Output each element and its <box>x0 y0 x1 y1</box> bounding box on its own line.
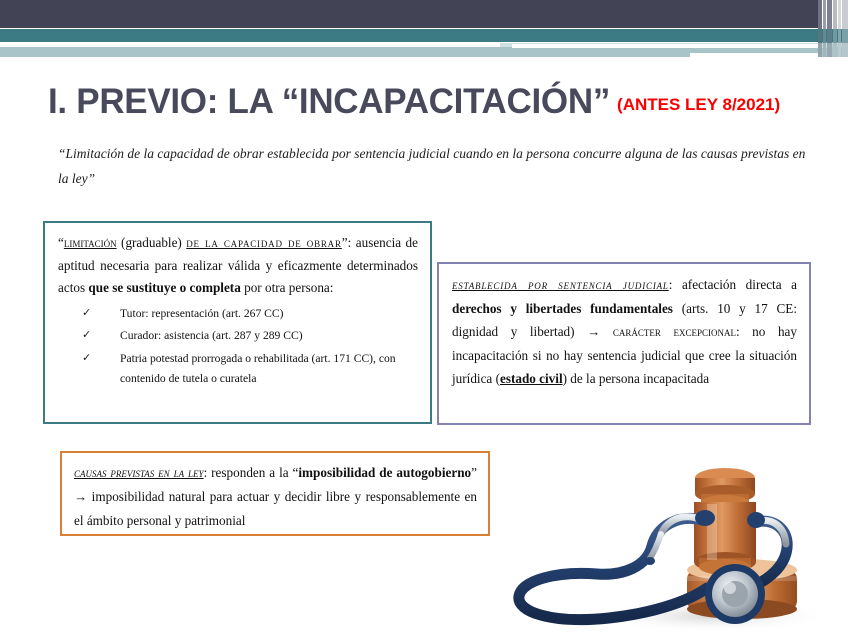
term-causas-previstas: Causas previstas en la ley <box>74 465 204 480</box>
list-item: ✓Curador: asistencia (art. 287 y 289 CC) <box>76 326 418 346</box>
term-estado-civil: estado civil <box>500 371 563 386</box>
page-title-annotation: (ANTES LEY 8/2021) <box>617 95 780 114</box>
header-notch-left <box>0 42 500 47</box>
header-band-dark <box>0 0 818 28</box>
box-limitacion-body-2: por otra persona: <box>241 280 334 295</box>
box-sentencia-paragraph: Establecida por sentencia judicial: afec… <box>452 273 797 391</box>
term-establecida-sentencia: Establecida por sentencia judicial <box>452 277 669 292</box>
header-vstripe-pale-overlay <box>818 43 848 57</box>
box-sentencia-text-1: : afectación directa a <box>669 277 797 292</box>
stethoscope-chestpiece <box>705 564 765 624</box>
list-item-label: Tutor: representación (art. 267 CC) <box>120 307 283 320</box>
check-icon: ✓ <box>82 349 91 368</box>
term-limitacion: Limitación <box>64 235 117 250</box>
stethoscope-eartip-right <box>747 512 765 528</box>
header-vstripe-teal-overlay <box>818 29 848 43</box>
box-limitacion-paragraph: “Limitación (graduable) de la capacidad … <box>58 232 418 300</box>
list-item: ✓Tutor: representación (art. 267 CC) <box>76 304 418 324</box>
term-capacidad-obrar: de la capacidad de obrar <box>186 235 342 250</box>
term-caracter-excepcional: Carácter excepcional <box>613 324 736 339</box>
stethoscope-joint <box>645 557 655 565</box>
slide-canvas: I. PREVIO: LA “INCAPACITACIÓN”(ANTES LEY… <box>0 0 848 636</box>
box-limitacion-body-bold: que se sustituye o completa <box>88 280 240 295</box>
page-title: I. PREVIO: LA “INCAPACITACIÓN” <box>48 82 610 121</box>
stethoscope-eartip-left <box>695 510 715 526</box>
slide-subtitle-quote: “Limitación de la capacidad de obrar est… <box>58 142 818 192</box>
box-causas-previstas: Causas previstas en la ley: responden a … <box>60 451 490 536</box>
list-item-label: Patria potestad prorrogada o rehabilitad… <box>120 352 396 385</box>
header-notch-mid <box>512 44 832 48</box>
header-notch-bottom <box>0 57 690 63</box>
term-paren: (graduable) <box>117 235 187 250</box>
box-causas-paragraph: Causas previstas en la ley: responden a … <box>74 461 477 533</box>
gavel-and-stethoscope-photo <box>497 448 842 634</box>
box-sentencia-text-4: ) de la persona incapacitada <box>563 371 709 386</box>
box-causas-bold-1: imposibilidad de autogobierno <box>298 465 471 480</box>
header-band-teal <box>0 29 848 42</box>
box-causas-text-1: : responden a la “ <box>204 465 299 480</box>
box-sentencia-bold-1: derechos y libertades fundamentales <box>452 301 673 316</box>
header-notch-tail <box>690 53 820 57</box>
list-item-label: Curador: asistencia (art. 287 y 289 CC) <box>120 329 303 342</box>
slide-title-row: I. PREVIO: LA “INCAPACITACIÓN”(ANTES LEY… <box>48 82 838 122</box>
check-icon: ✓ <box>82 304 91 323</box>
list-item: ✓Patria potestad prorrogada o rehabilita… <box>76 349 418 390</box>
box-limitacion: “Limitación (graduable) de la capacidad … <box>43 221 432 424</box>
box-sentencia-judicial: Establecida por sentencia judicial: afec… <box>437 262 811 425</box>
quote-close: ”: <box>342 235 352 250</box>
box-limitacion-bullet-list: ✓Tutor: representación (art. 267 CC) ✓Cu… <box>58 304 418 389</box>
check-icon: ✓ <box>82 326 91 345</box>
